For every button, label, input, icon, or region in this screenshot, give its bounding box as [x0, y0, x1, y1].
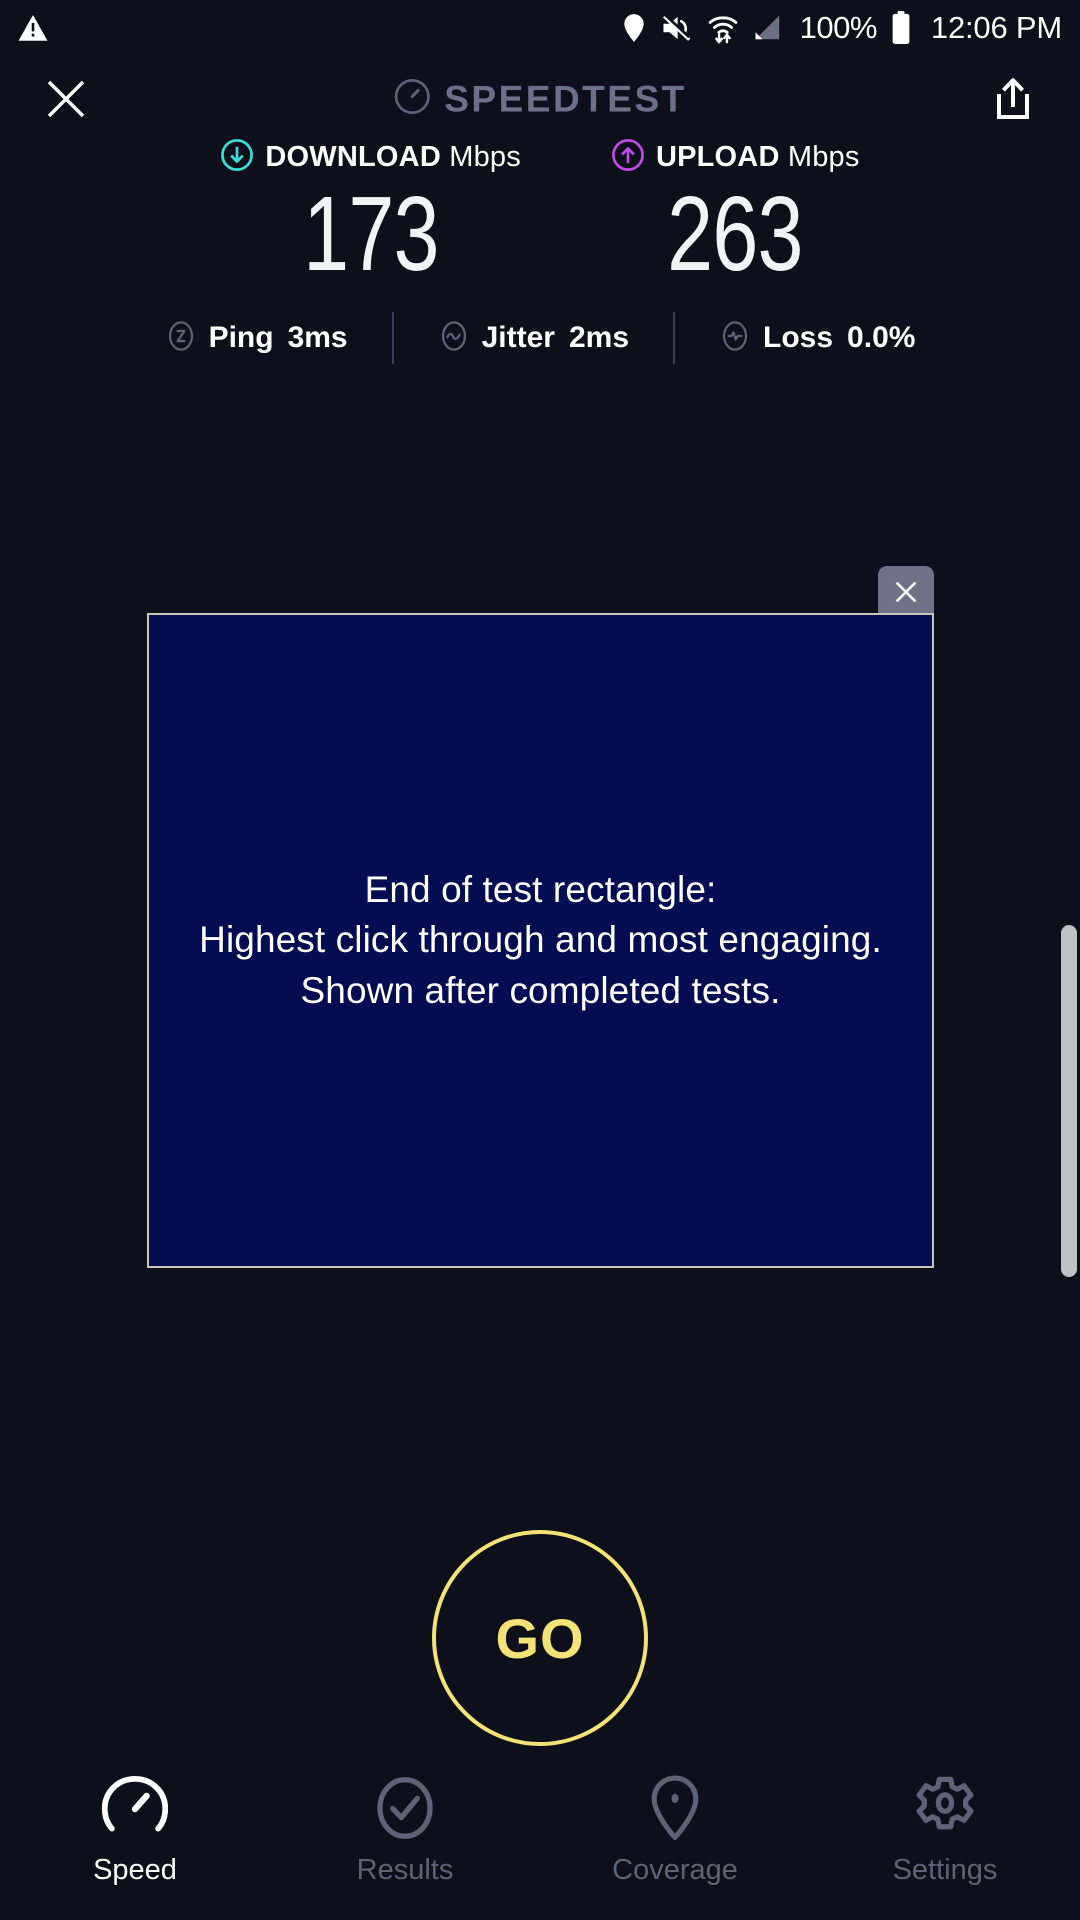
- brand: SPEEDTEST: [393, 78, 687, 121]
- clock-label: 12:06 PM: [931, 10, 1062, 46]
- ad-text: End of test rectangle: Highest click thr…: [199, 865, 882, 1016]
- ad-banner[interactable]: End of test rectangle: Highest click thr…: [147, 613, 934, 1268]
- ping-value: 3ms: [288, 321, 348, 355]
- metric-jitter: Jitter 2ms: [394, 320, 673, 357]
- upload-result: UPLOAD Mbps 263: [611, 138, 860, 290]
- jitter-value: 2ms: [569, 321, 629, 355]
- upload-arrow-icon: [611, 138, 645, 177]
- brand-title: SPEEDTEST: [444, 78, 687, 120]
- speed-readouts: DOWNLOAD Mbps 173 UPLOAD Mbps: [0, 138, 1080, 290]
- ad-close-button[interactable]: [878, 566, 934, 618]
- ping-icon: [165, 320, 197, 357]
- bottom-navigation: Speed Results Coverage: [0, 1748, 1080, 1920]
- battery-full-icon: [890, 11, 912, 45]
- loss-value: 0.0%: [847, 321, 915, 355]
- loss-icon: [719, 320, 751, 357]
- volume-muted-icon: [661, 13, 693, 43]
- close-icon: [891, 577, 921, 607]
- speedometer-icon: [102, 1772, 168, 1844]
- nav-item-coverage[interactable]: Coverage: [540, 1748, 810, 1920]
- download-label: DOWNLOAD Mbps: [265, 141, 521, 174]
- nav-item-results[interactable]: Results: [270, 1748, 540, 1920]
- nav-label-settings: Settings: [893, 1854, 998, 1887]
- ping-label: Ping: [209, 321, 274, 355]
- upload-label: UPLOAD Mbps: [656, 141, 860, 174]
- nav-label-speed: Speed: [93, 1854, 177, 1887]
- download-header: DOWNLOAD Mbps: [220, 138, 521, 177]
- vertical-scrollbar[interactable]: [1061, 925, 1077, 1277]
- jitter-label: Jitter: [482, 321, 555, 355]
- warning-triangle-icon: [16, 11, 50, 45]
- gear-icon: [912, 1772, 978, 1844]
- metric-ping: Ping 3ms: [121, 320, 392, 357]
- check-circle-icon: [373, 1772, 437, 1844]
- speedometer-icon: [393, 78, 431, 121]
- nav-label-results: Results: [357, 1854, 454, 1887]
- battery-percent-label: 100%: [800, 10, 877, 46]
- go-button-label: GO: [495, 1606, 584, 1671]
- close-icon: [42, 75, 90, 123]
- wifi-transfer-icon: [706, 12, 740, 44]
- status-bar: 100% 12:06 PM: [0, 0, 1080, 56]
- app-header: SPEEDTEST: [0, 56, 1080, 142]
- metrics-row: Ping 3ms Jitter 2ms: [0, 312, 1080, 364]
- go-button[interactable]: GO: [432, 1530, 648, 1746]
- share-button[interactable]: [988, 72, 1038, 126]
- speedtest-app-screen: 100% 12:06 PM SPEE: [0, 0, 1080, 1920]
- status-bar-right: 100% 12:06 PM: [620, 10, 1062, 46]
- status-bar-left: [16, 11, 50, 45]
- loss-label: Loss: [763, 321, 833, 355]
- results-panel: DOWNLOAD Mbps 173 UPLOAD Mbps: [0, 138, 1080, 364]
- metric-loss: Loss 0.0%: [675, 320, 959, 357]
- jitter-icon: [438, 320, 470, 357]
- location-pin-icon: [620, 13, 648, 43]
- close-button[interactable]: [38, 71, 94, 127]
- location-pin-icon: [644, 1772, 706, 1844]
- download-arrow-icon: [220, 138, 254, 177]
- nav-item-settings[interactable]: Settings: [810, 1748, 1080, 1920]
- upload-value: 263: [667, 179, 803, 290]
- nav-item-speed[interactable]: Speed: [0, 1748, 270, 1920]
- upload-header: UPLOAD Mbps: [611, 138, 860, 177]
- download-result: DOWNLOAD Mbps 173: [220, 138, 521, 290]
- cellular-signal-icon: [753, 14, 783, 42]
- download-value: 173: [303, 179, 439, 290]
- share-icon: [991, 75, 1035, 123]
- nav-label-coverage: Coverage: [612, 1854, 738, 1887]
- advertisement: End of test rectangle: Highest click thr…: [147, 613, 934, 1268]
